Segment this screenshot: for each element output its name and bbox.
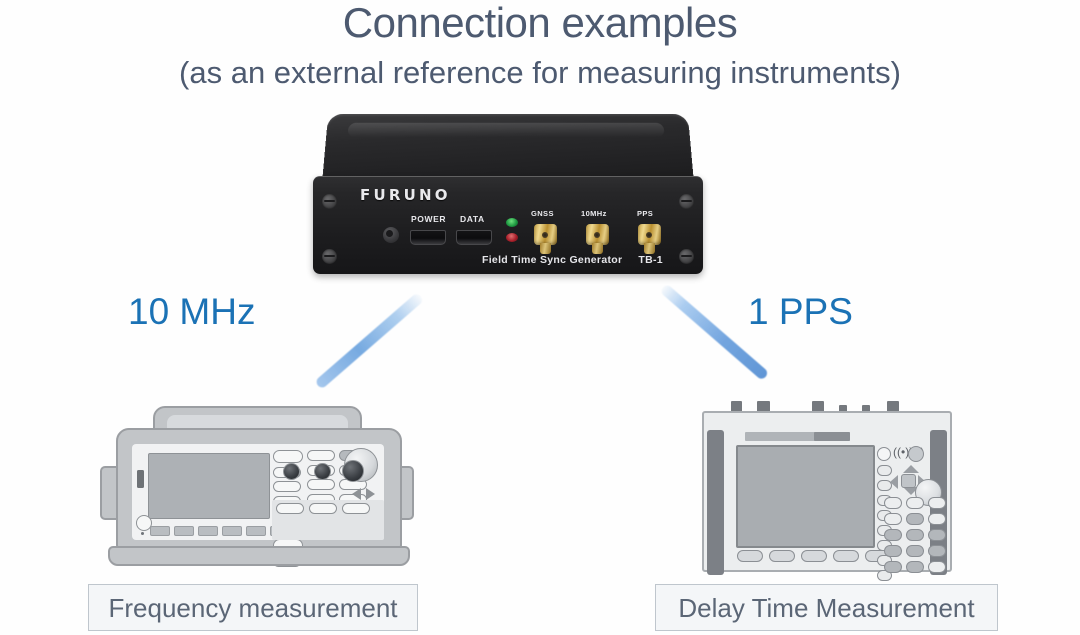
counter-bnc-connector	[314, 463, 331, 480]
analyzer-key	[906, 513, 924, 525]
caption-text: Frequency measurement	[108, 595, 397, 621]
counter-base	[108, 546, 410, 566]
counter-lower-key	[342, 503, 370, 514]
analyzer-key	[928, 561, 946, 573]
analyzer-key	[928, 545, 946, 557]
counter-key	[307, 450, 335, 461]
device-model-id: TB-1	[638, 254, 663, 266]
heading-block: Connection examples (as an external refe…	[0, 0, 1080, 90]
counter-front-panel	[132, 444, 384, 540]
analyzer-softkey	[801, 550, 827, 562]
counter-softkey-row	[150, 526, 290, 536]
analyzer-power-button	[908, 446, 924, 462]
analyzer-key	[928, 529, 946, 541]
analyzer-key	[928, 497, 946, 509]
gnss-connector	[533, 224, 558, 254]
arrow-left-icon	[352, 488, 361, 500]
arrow-up-icon	[903, 465, 919, 473]
caption-text: Delay Time Measurement	[678, 595, 974, 621]
analyzer-softkey	[769, 550, 795, 562]
analyzer-display-screen	[736, 445, 875, 548]
panel-screw-icon	[322, 249, 337, 264]
device-model-line: Field Time Sync GeneratorTB-1	[482, 254, 663, 266]
10mhz-connector-label: 10MHz	[581, 209, 607, 218]
analyzer-chassis: ((•)) ◘))	[702, 411, 952, 572]
analyzer-softkey-row	[737, 550, 891, 562]
pps-connector-label: PPS	[637, 209, 653, 218]
analyzer-key	[884, 529, 902, 541]
page-title: Connection examples	[0, 0, 1080, 44]
status-led-red	[506, 233, 518, 242]
sma-stem-icon	[540, 243, 551, 254]
counter-softkey	[174, 526, 194, 536]
counter-softkey	[222, 526, 242, 536]
analyzer-side-bumper	[707, 430, 724, 575]
analyzer-key	[928, 513, 946, 525]
counter-lower-key	[309, 503, 337, 514]
counter-function-key	[273, 450, 303, 463]
analyzer-keypad	[884, 497, 946, 573]
frequency-counter-instrument	[98, 404, 416, 572]
analyzer-key	[884, 513, 902, 525]
counter-chassis	[116, 428, 402, 558]
device-brand-logo: FURUNO	[360, 186, 451, 204]
analyzer-key	[906, 561, 924, 573]
pps-connector	[637, 224, 662, 254]
counter-vent-slot	[137, 470, 144, 488]
counter-bnc-connector	[342, 460, 364, 482]
gnss-connector-label: GNSS	[531, 209, 554, 218]
panel-screw-icon	[679, 249, 694, 264]
analyzer-key	[906, 529, 924, 541]
analyzer-key	[884, 497, 902, 509]
power-port	[410, 230, 446, 245]
device-dial-icon	[383, 227, 399, 243]
analyzer-key	[884, 561, 902, 573]
counter-function-key	[273, 481, 301, 492]
device-product-name: Field Time Sync Generator	[482, 254, 622, 266]
counter-bnc-connector	[283, 463, 300, 480]
panel-screw-icon	[679, 194, 694, 209]
analyzer-softkey	[833, 550, 859, 562]
panel-screw-icon	[322, 194, 337, 209]
signal-label-1pps: 1 PPS	[748, 291, 853, 333]
counter-display-screen	[148, 453, 270, 519]
sma-body-icon	[586, 224, 609, 245]
10mhz-connector	[585, 224, 610, 254]
data-port	[456, 230, 492, 245]
arrow-right-icon	[366, 488, 375, 500]
caption-box-frequency-measurement: Frequency measurement	[88, 584, 418, 631]
signal-label-10mhz: 10 MHz	[128, 291, 255, 333]
counter-connector-panel	[272, 500, 384, 540]
page-subtitle: (as an external reference for measuring …	[0, 44, 1080, 90]
tb1-device: FURUNO POWER DATA GNSS 10MHz PPS Field T…	[313, 108, 703, 280]
device-top-glare	[347, 123, 664, 138]
power-port-label: POWER	[411, 214, 446, 224]
counter-softkey	[246, 526, 266, 536]
analyzer-side-key	[877, 447, 891, 461]
analyzer-key	[884, 545, 902, 557]
analyzer-softkey	[737, 550, 763, 562]
counter-softkey	[198, 526, 218, 536]
data-port-label: DATA	[460, 214, 485, 224]
analyzer-key	[906, 497, 924, 509]
counter-lower-key	[276, 503, 304, 514]
sma-body-icon	[534, 224, 557, 245]
counter-lower-key-row	[276, 503, 370, 514]
caption-box-delay-time-measurement: Delay Time Measurement	[655, 584, 998, 631]
sma-stem-icon	[644, 243, 655, 254]
status-led-green	[506, 218, 518, 227]
counter-softkey	[150, 526, 170, 536]
counter-arrow-keys	[352, 488, 375, 500]
analyzer-key	[906, 545, 924, 557]
connection-diagram: Connection examples (as an external refe…	[0, 0, 1080, 635]
sma-stem-icon	[592, 243, 603, 254]
analyzer-top-strip-accent	[814, 432, 850, 441]
counter-key	[307, 479, 335, 490]
arrow-left-icon	[890, 475, 898, 489]
delay-time-analyzer-instrument: ((•)) ◘))	[702, 400, 948, 572]
counter-indicator-dot	[141, 532, 144, 535]
connection-line-10mhz	[314, 292, 424, 390]
analyzer-dpad-center	[901, 474, 916, 488]
sma-body-icon	[638, 224, 661, 245]
